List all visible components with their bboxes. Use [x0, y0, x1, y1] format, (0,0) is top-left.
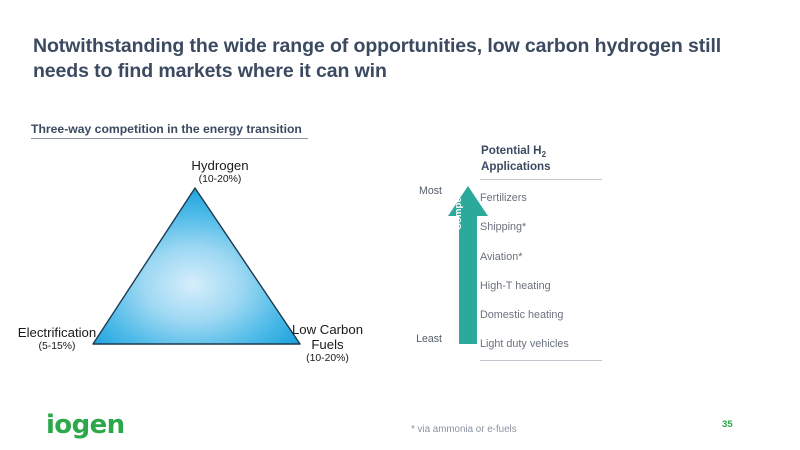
- triangle-vertex-hydrogen: Hydrogen (10-20%): [130, 158, 310, 186]
- page-title: Notwithstanding the wide range of opport…: [33, 34, 733, 84]
- triangle-vertex-low-carbon-fuels-label-2: Fuels: [311, 337, 343, 352]
- scale-label-most: Most: [398, 185, 442, 197]
- iogen-logo: iogen: [46, 410, 136, 440]
- applications-panel-title-line1: Potential H: [481, 144, 542, 157]
- list-item: Domestic heating: [480, 301, 602, 330]
- list-item: Aviation*: [480, 243, 602, 272]
- iogen-logo-text: iogen: [46, 410, 125, 440]
- page-number: 35: [722, 419, 733, 430]
- applications-list: Fertilizers Shipping* Aviation* High-T h…: [480, 184, 602, 361]
- scale-label-least: Least: [398, 333, 442, 345]
- panel-title-divider: [480, 179, 602, 180]
- footnote: * via ammonia or e-fuels: [411, 424, 517, 435]
- section-heading: Three-way competition in the energy tran…: [31, 122, 308, 139]
- list-item: High-T heating: [480, 272, 602, 301]
- triangle-vertex-electrification: Electrification (5-15%): [2, 325, 112, 353]
- list-item: Light duty vehicles: [480, 330, 602, 360]
- triangle-vertex-hydrogen-share: (10-20%): [130, 173, 310, 186]
- applications-panel-title-line2: Applications: [481, 160, 551, 173]
- triangle-vertex-hydrogen-label: Hydrogen: [191, 158, 248, 173]
- triangle-vertex-low-carbon-fuels-share: (10-20%): [280, 352, 375, 365]
- list-item: Fertilizers: [480, 184, 602, 213]
- triangle-shape-icon: [90, 184, 305, 349]
- three-way-competition-triangle: Hydrogen (10-20%) Electrification (5-15%…: [0, 150, 400, 385]
- applications-panel-title: Potential H2Applications: [481, 144, 621, 174]
- list-item: Shipping*: [480, 213, 602, 242]
- triangle-vertex-low-carbon-fuels: Low Carbon Fuels (10-20%): [280, 322, 375, 365]
- potential-h2-applications-panel: Potential H2Applications Most Least Comp…: [408, 140, 658, 370]
- triangle-vertex-electrification-share: (5-15%): [2, 340, 112, 353]
- applications-panel-title-subscript: 2: [542, 150, 546, 159]
- triangle-vertex-electrification-label: Electrification: [18, 325, 96, 340]
- triangle-vertex-low-carbon-fuels-label-1: Low Carbon: [292, 322, 363, 337]
